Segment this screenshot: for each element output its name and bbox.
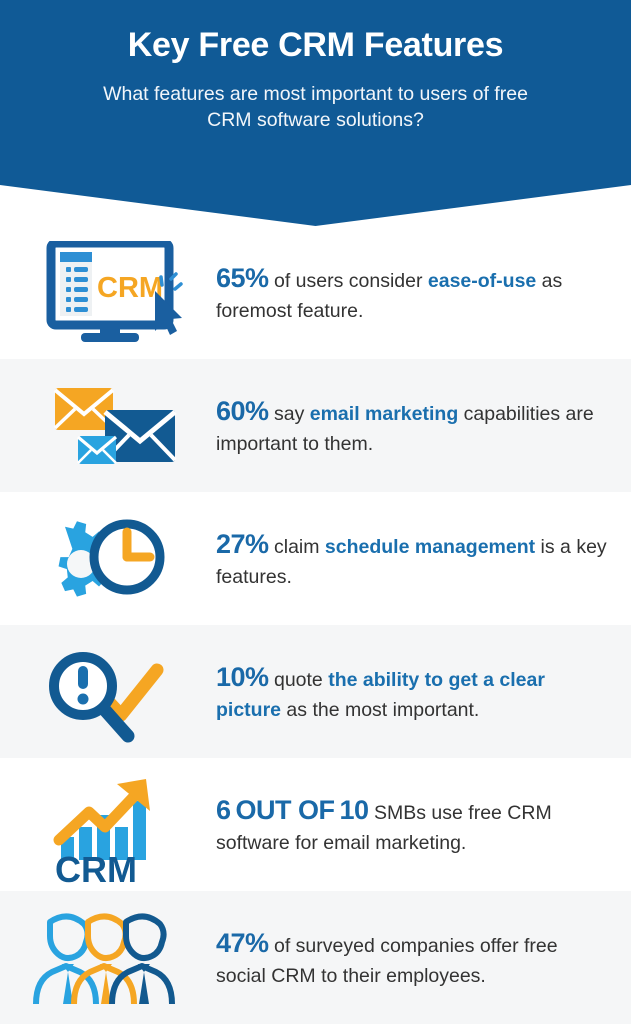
stat-suffix: % [245, 529, 269, 559]
stat-value: 47 [216, 928, 245, 958]
stat-value-2: 10 [340, 795, 369, 825]
stat-suffix: % [245, 396, 269, 426]
magnifier-check-icon [0, 625, 216, 758]
growth-chart-crm-icon: CRM [0, 758, 216, 891]
svg-text:CRM: CRM [97, 272, 163, 304]
monitor-crm-cursor-icon: CRM [0, 226, 216, 359]
three-people-icon [0, 891, 216, 1024]
stat-row-ease-of-use: CRM 65% of users consider ease-of-use as… [0, 226, 631, 359]
stat-value: 10 [216, 662, 245, 692]
stat-text-part-1: quote [269, 669, 329, 691]
stat-text-social-crm: 47% of surveyed companies offer free soc… [216, 925, 631, 989]
stat-highlight: ease-of-use [428, 270, 536, 292]
stat-text-part-1: claim [269, 536, 325, 558]
stat-highlight: email marketing [310, 403, 458, 425]
stat-value: 27 [216, 529, 245, 559]
stat-text-part-1: say [269, 403, 310, 425]
stat-middle-label: OUT OF [236, 795, 335, 825]
stat-row-social-crm: 47% of surveyed companies offer free soc… [0, 891, 631, 1024]
page-title: Key Free CRM Features [0, 26, 631, 65]
stat-text-schedule-management: 27% claim schedule management is a key f… [216, 526, 631, 590]
stat-row-schedule-management: 27% claim schedule management is a key f… [0, 492, 631, 625]
stat-value: 65 [216, 263, 245, 293]
stat-text-part-1: of users consider [269, 270, 428, 292]
stat-suffix: % [245, 928, 269, 958]
page-subtitle: What features are most important to user… [101, 81, 531, 133]
stat-row-smb-email-marketing: CRM 6OUT OF10 SMBs use free CRM software… [0, 758, 631, 891]
stat-text-smb-email-marketing: 6OUT OF10 SMBs use free CRM software for… [216, 792, 631, 856]
stat-highlight: schedule management [325, 536, 535, 558]
stat-suffix: % [245, 662, 269, 692]
gear-clock-icon [0, 492, 216, 625]
stat-suffix: % [245, 263, 269, 293]
stat-text-ease-of-use: 65% of users consider ease-of-use as for… [216, 260, 631, 324]
stat-text-part-2: as the most important. [281, 699, 479, 721]
stat-row-clear-picture: 10% quote the ability to get a clear pic… [0, 625, 631, 758]
header-banner: Key Free CRM Features What features are … [0, 0, 631, 226]
envelopes-icon [0, 359, 216, 492]
stat-text-email-marketing: 60% say email marketing capabilities are… [216, 393, 631, 457]
stat-value: 60 [216, 396, 245, 426]
stats-list: CRM 65% of users consider ease-of-use as… [0, 226, 631, 1024]
infographic-root: Key Free CRM Features What features are … [0, 0, 631, 1024]
stat-value: 6 [216, 795, 231, 825]
stat-row-email-marketing: 60% say email marketing capabilities are… [0, 359, 631, 492]
stat-text-clear-picture: 10% quote the ability to get a clear pic… [216, 659, 631, 723]
icon-label: CRM [55, 849, 137, 885]
